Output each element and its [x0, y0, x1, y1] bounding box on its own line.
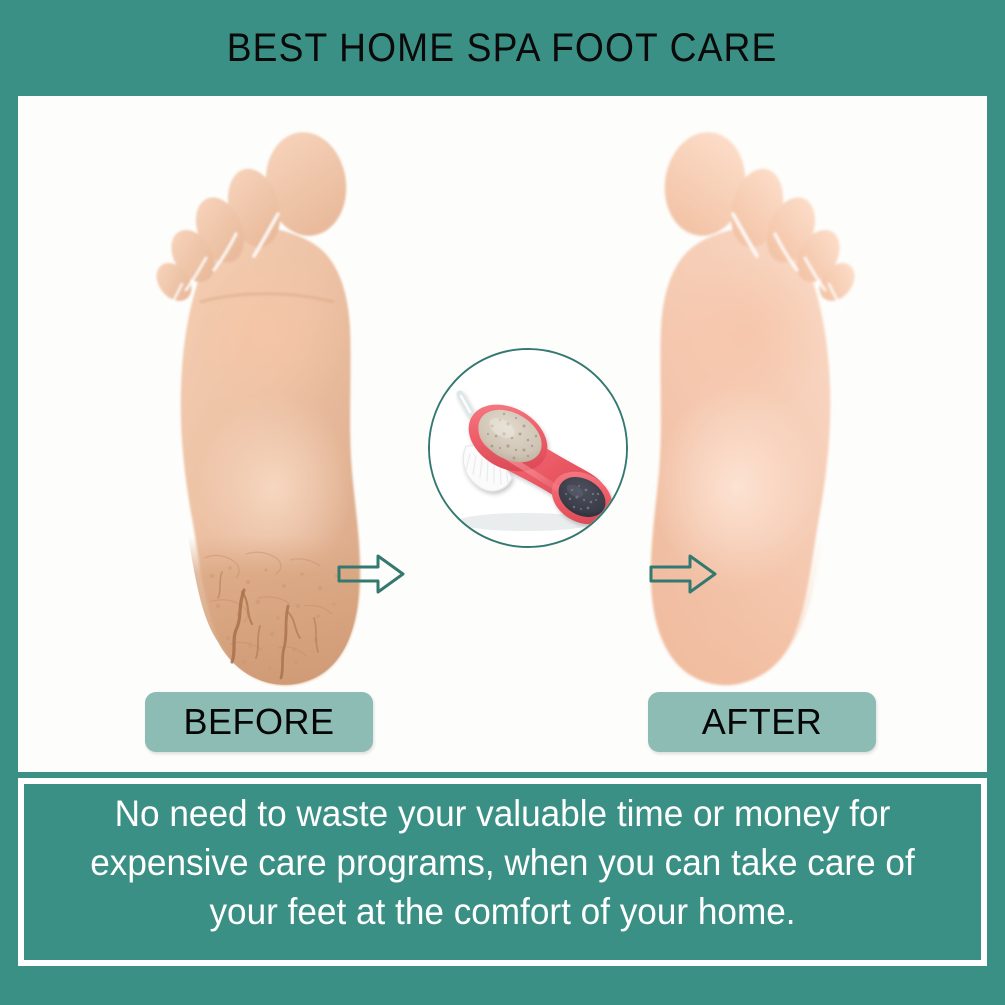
after-label-text: AFTER — [702, 701, 823, 743]
arrow-before-to-product-icon — [336, 551, 406, 597]
after-label-badge: AFTER — [648, 692, 876, 752]
poster-root: BEST HOME SPA FOOT CARE — [0, 0, 1005, 1005]
product-circle-inset — [428, 348, 628, 548]
tagline-frame: No need to waste your valuable time or m… — [18, 778, 987, 966]
tagline-text: No need to waste your valuable time or m… — [48, 790, 957, 936]
arrow-right-icon — [336, 551, 406, 597]
tagline-panel: No need to waste your valuable time or m… — [24, 784, 981, 960]
before-label-badge: BEFORE — [145, 692, 373, 752]
before-label-text: BEFORE — [183, 701, 334, 743]
comparison-panel: BEFORE AFTER — [18, 96, 987, 772]
foot-file-tool-illustration — [430, 350, 626, 546]
before-heel-dry-patch — [188, 536, 358, 685]
before-foot-image — [138, 106, 428, 706]
arrow-product-to-after-icon — [648, 551, 718, 597]
page-title: BEST HOME SPA FOOT CARE — [227, 26, 778, 71]
before-foot-illustration — [138, 106, 428, 706]
title-bar: BEST HOME SPA FOOT CARE — [0, 0, 1005, 96]
after-foot-image — [583, 106, 873, 706]
arrow-right-icon — [648, 551, 718, 597]
after-foot-illustration — [583, 106, 873, 706]
before-cracked-heel — [188, 536, 358, 685]
